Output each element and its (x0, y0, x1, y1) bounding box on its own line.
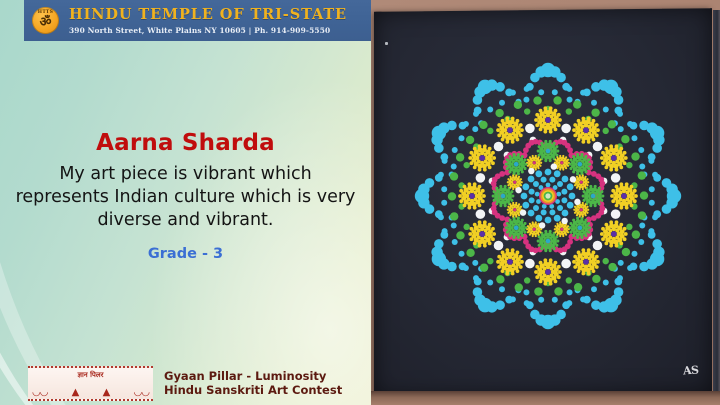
contest-logo-banner: ज्ञान पिलर ◡◡ ▲ ▲ ◡◡ (28, 366, 153, 401)
contest-title-line2: Hindu Sanskriti Art Contest (164, 383, 342, 397)
contest-logo-devanagari: ज्ञान पिलर (77, 371, 103, 379)
student-name: Aarna Sharda (14, 130, 357, 156)
figure-icon-4: ◡◡ (134, 387, 149, 398)
artwork-photo: AS (371, 0, 720, 405)
student-info-block: Aarna Sharda My art piece is vibrant whi… (0, 130, 371, 262)
figure-icon-2: ▲ (72, 387, 79, 398)
contest-title: Gyaan Pillar - Luminosity Hindu Sanskrit… (164, 369, 342, 397)
table-surface (371, 391, 720, 405)
figure-icon-3: ▲ (103, 387, 110, 398)
contest-title-line1: Gyaan Pillar - Luminosity (164, 369, 342, 383)
temple-name: HINDU TEMPLE OF TRI-STATE (69, 6, 347, 23)
temple-address: 390 North Street, White Plains NY 10605 … (69, 25, 347, 36)
artist-signature: AS (682, 363, 698, 377)
om-icon: ॐ (32, 16, 59, 29)
figure-icon-1: ◡◡ (32, 387, 47, 398)
presentation-slide: HTTS ॐ HINDU TEMPLE OF TRI-STATE 390 Nor… (0, 0, 720, 405)
contest-footer: ज्ञान पिलर ◡◡ ▲ ▲ ◡◡ Gyaan Pillar - Lumi… (0, 361, 371, 405)
dot-mandala-artwork (371, 0, 720, 405)
header-text-group: HINDU TEMPLE OF TRI-STATE 390 North Stre… (69, 6, 347, 36)
contest-logo-figures: ◡◡ ▲ ▲ ◡◡ (28, 384, 153, 398)
grade-label: Grade - 3 (14, 246, 357, 262)
art-description: My art piece is vibrant which represents… (14, 163, 357, 232)
temple-header-bar: HTTS ॐ HINDU TEMPLE OF TRI-STATE 390 Nor… (24, 0, 371, 41)
temple-logo-icon: HTTS ॐ (32, 7, 59, 34)
